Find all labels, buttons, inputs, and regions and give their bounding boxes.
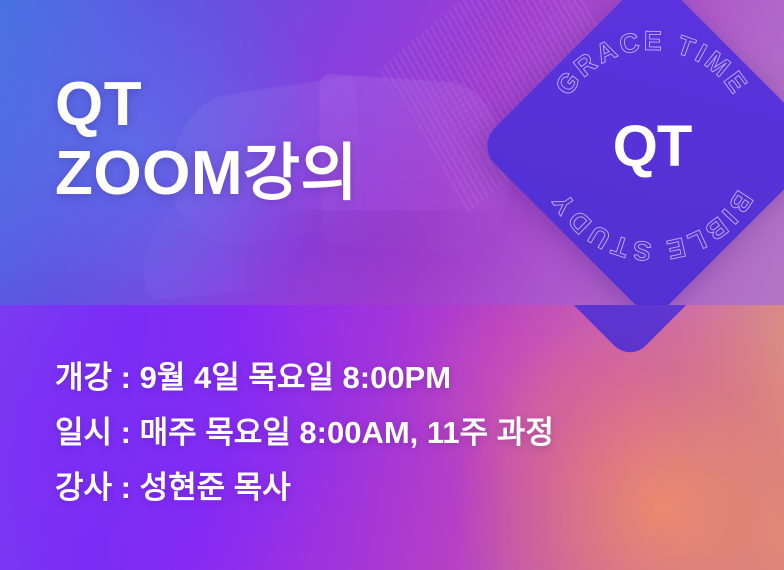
poster-title: QT ZOOM강의 xyxy=(55,70,358,209)
badge-content: GRACE TIME BIBLE STUDY QT xyxy=(528,22,776,270)
title-line-2: ZOOM강의 xyxy=(55,139,358,208)
hero-section: QT ZOOM강의 GRACE TIME BIBLE STUDY xyxy=(0,0,784,305)
detail-start-date: 개강 : 9월 4일 목요일 8:00PM xyxy=(55,350,554,405)
title-line-1: QT xyxy=(55,70,358,139)
badge-center-label: QT xyxy=(528,22,776,270)
info-section: 개강 : 9월 4일 목요일 8:00PM 일시 : 매주 목요일 8:00AM… xyxy=(0,305,784,570)
detail-instructor: 강사 : 성현준 목사 xyxy=(55,460,554,515)
qt-zoom-class-poster: QT ZOOM강의 GRACE TIME BIBLE STUDY xyxy=(0,0,784,570)
grace-time-badge: GRACE TIME BIBLE STUDY QT xyxy=(470,0,784,305)
detail-schedule: 일시 : 매주 목요일 8:00AM, 11주 과정 xyxy=(55,405,554,460)
schedule-details: 개강 : 9월 4일 목요일 8:00PM 일시 : 매주 목요일 8:00AM… xyxy=(55,350,554,516)
